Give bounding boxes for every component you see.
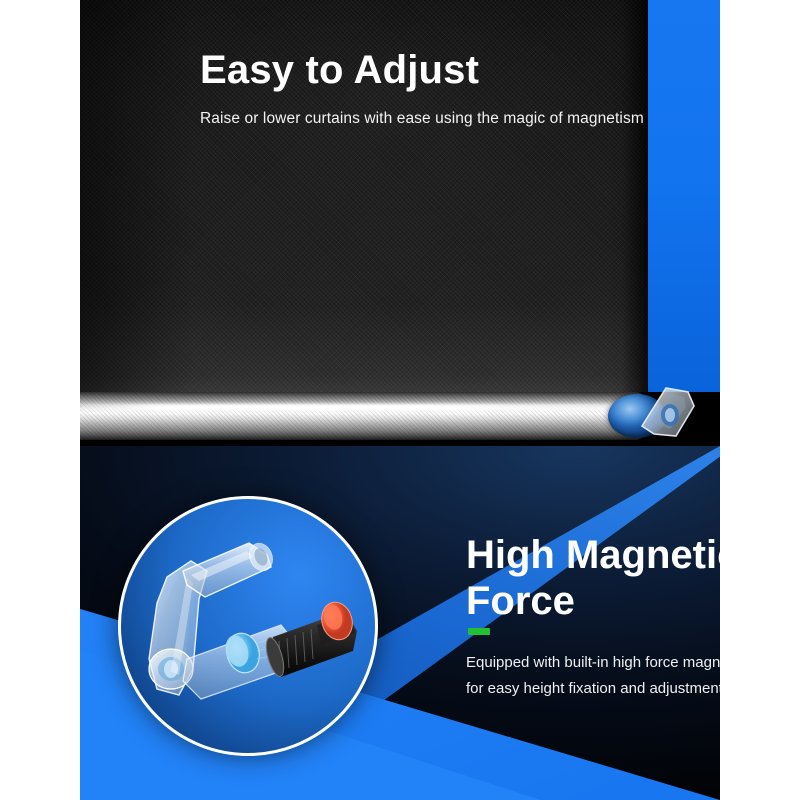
feature-description-line1: Equipped with built-in high force magnet… bbox=[466, 650, 720, 676]
feature-title-line2: Force bbox=[466, 579, 575, 623]
product-feature-poster: Easy to Adjust Raise or lower curtains w… bbox=[0, 0, 800, 800]
roller-bar-texture bbox=[80, 392, 650, 440]
feature-title-line1: High Magnetic bbox=[466, 533, 720, 577]
transparent-tube-arm bbox=[183, 540, 276, 597]
magnet-assembly-illustration bbox=[121, 499, 375, 753]
silver-roller-bar-assembly bbox=[80, 386, 720, 448]
page-title: Easy to Adjust bbox=[200, 48, 479, 93]
transparent-plastic-hook bbox=[636, 382, 702, 444]
blue-wall-band bbox=[648, 0, 720, 392]
blue-band-shadow bbox=[622, 0, 648, 392]
feature-description-line2: for easy height fixation and adjustment bbox=[466, 676, 720, 702]
feature-description: Equipped with built-in high force magnet… bbox=[466, 650, 720, 702]
feature-title: High Magnetic Force bbox=[466, 532, 720, 624]
silver-roller-bar bbox=[80, 392, 650, 440]
page-subtitle: Raise or lower curtains with ease using … bbox=[200, 110, 644, 128]
magnified-detail-circle bbox=[118, 496, 378, 756]
poster-canvas: Easy to Adjust Raise or lower curtains w… bbox=[80, 0, 720, 800]
green-accent-dash bbox=[468, 628, 490, 635]
roller-bar-highlight bbox=[80, 404, 640, 411]
